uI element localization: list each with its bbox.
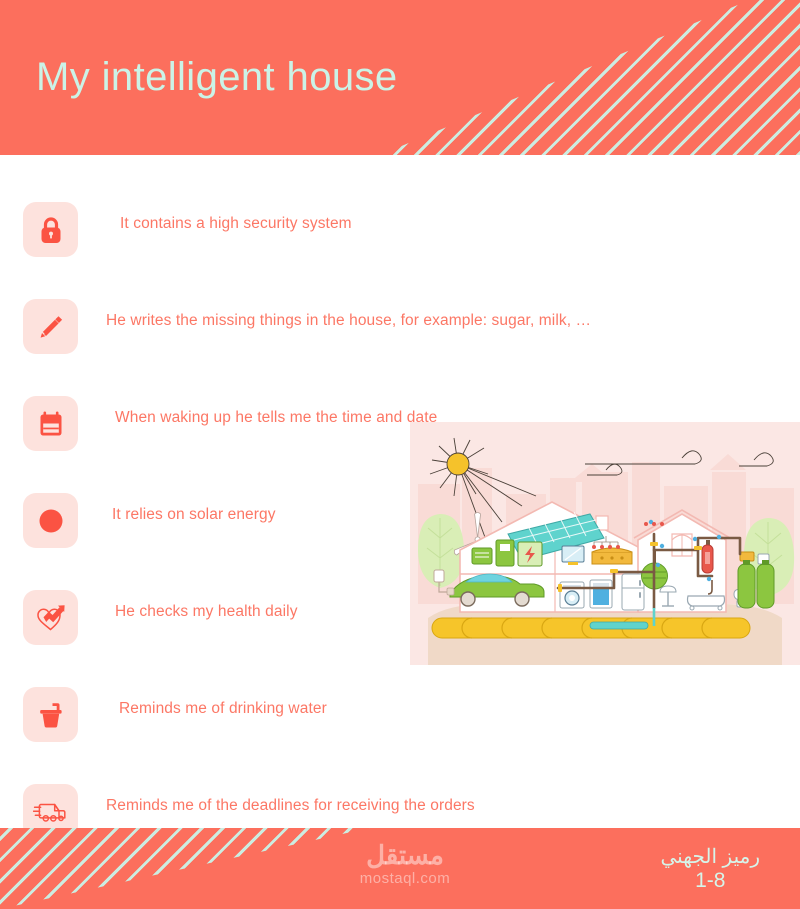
mostaql-watermark: مستقل mostaql.com bbox=[350, 842, 460, 886]
smart-home-illustration-svg bbox=[410, 422, 800, 665]
drink-cup-icon-tile bbox=[23, 687, 78, 742]
feature-label: When waking up he tells me the time and … bbox=[115, 409, 437, 427]
lock-icon bbox=[37, 215, 65, 245]
footer-credit: رميز الجهني 1-8 bbox=[661, 846, 760, 893]
sun-circle-icon-tile bbox=[23, 493, 78, 548]
feature-label: He checks my health daily bbox=[115, 603, 298, 621]
smart-home-illustration bbox=[410, 422, 800, 665]
feature-row: Reminds me of drinking water bbox=[0, 680, 800, 777]
drink-cup-icon bbox=[36, 700, 66, 730]
author-name: رميز الجهني bbox=[661, 846, 760, 869]
mostaql-domain-text: mostaql.com bbox=[350, 871, 460, 886]
sun bbox=[447, 453, 469, 475]
lock-icon-tile bbox=[23, 202, 78, 257]
feature-row: It contains a high security system bbox=[0, 195, 800, 292]
pencil-icon-tile bbox=[23, 299, 78, 354]
feature-label: Reminds me of the deadlines for receivin… bbox=[106, 797, 475, 815]
feature-label: He writes the missing things in the hous… bbox=[106, 312, 591, 330]
feature-label: It relies on solar energy bbox=[112, 506, 276, 524]
page-number: 1-8 bbox=[661, 869, 760, 893]
header-stripe-pattern bbox=[380, 0, 800, 155]
calendar-icon-tile bbox=[23, 396, 78, 451]
page-title: My intelligent house bbox=[36, 55, 398, 100]
feature-label: Reminds me of drinking water bbox=[119, 700, 327, 718]
heart-pulse-icon bbox=[35, 603, 67, 633]
calendar-icon bbox=[37, 409, 65, 439]
mostaql-logo-arabic: مستقل bbox=[350, 842, 460, 868]
page-footer: مستقل mostaql.com رميز الجهني 1-8 bbox=[0, 828, 800, 909]
pencil-icon bbox=[36, 312, 66, 342]
page-header: My intelligent house bbox=[0, 0, 800, 155]
sun-circle-icon bbox=[36, 506, 66, 536]
ceiling-lights bbox=[644, 522, 664, 526]
delivery-truck-icon bbox=[33, 798, 69, 826]
feature-label: It contains a high security system bbox=[120, 215, 352, 233]
heart-pulse-icon-tile bbox=[23, 590, 78, 645]
feature-row: He writes the missing things in the hous… bbox=[0, 292, 800, 389]
